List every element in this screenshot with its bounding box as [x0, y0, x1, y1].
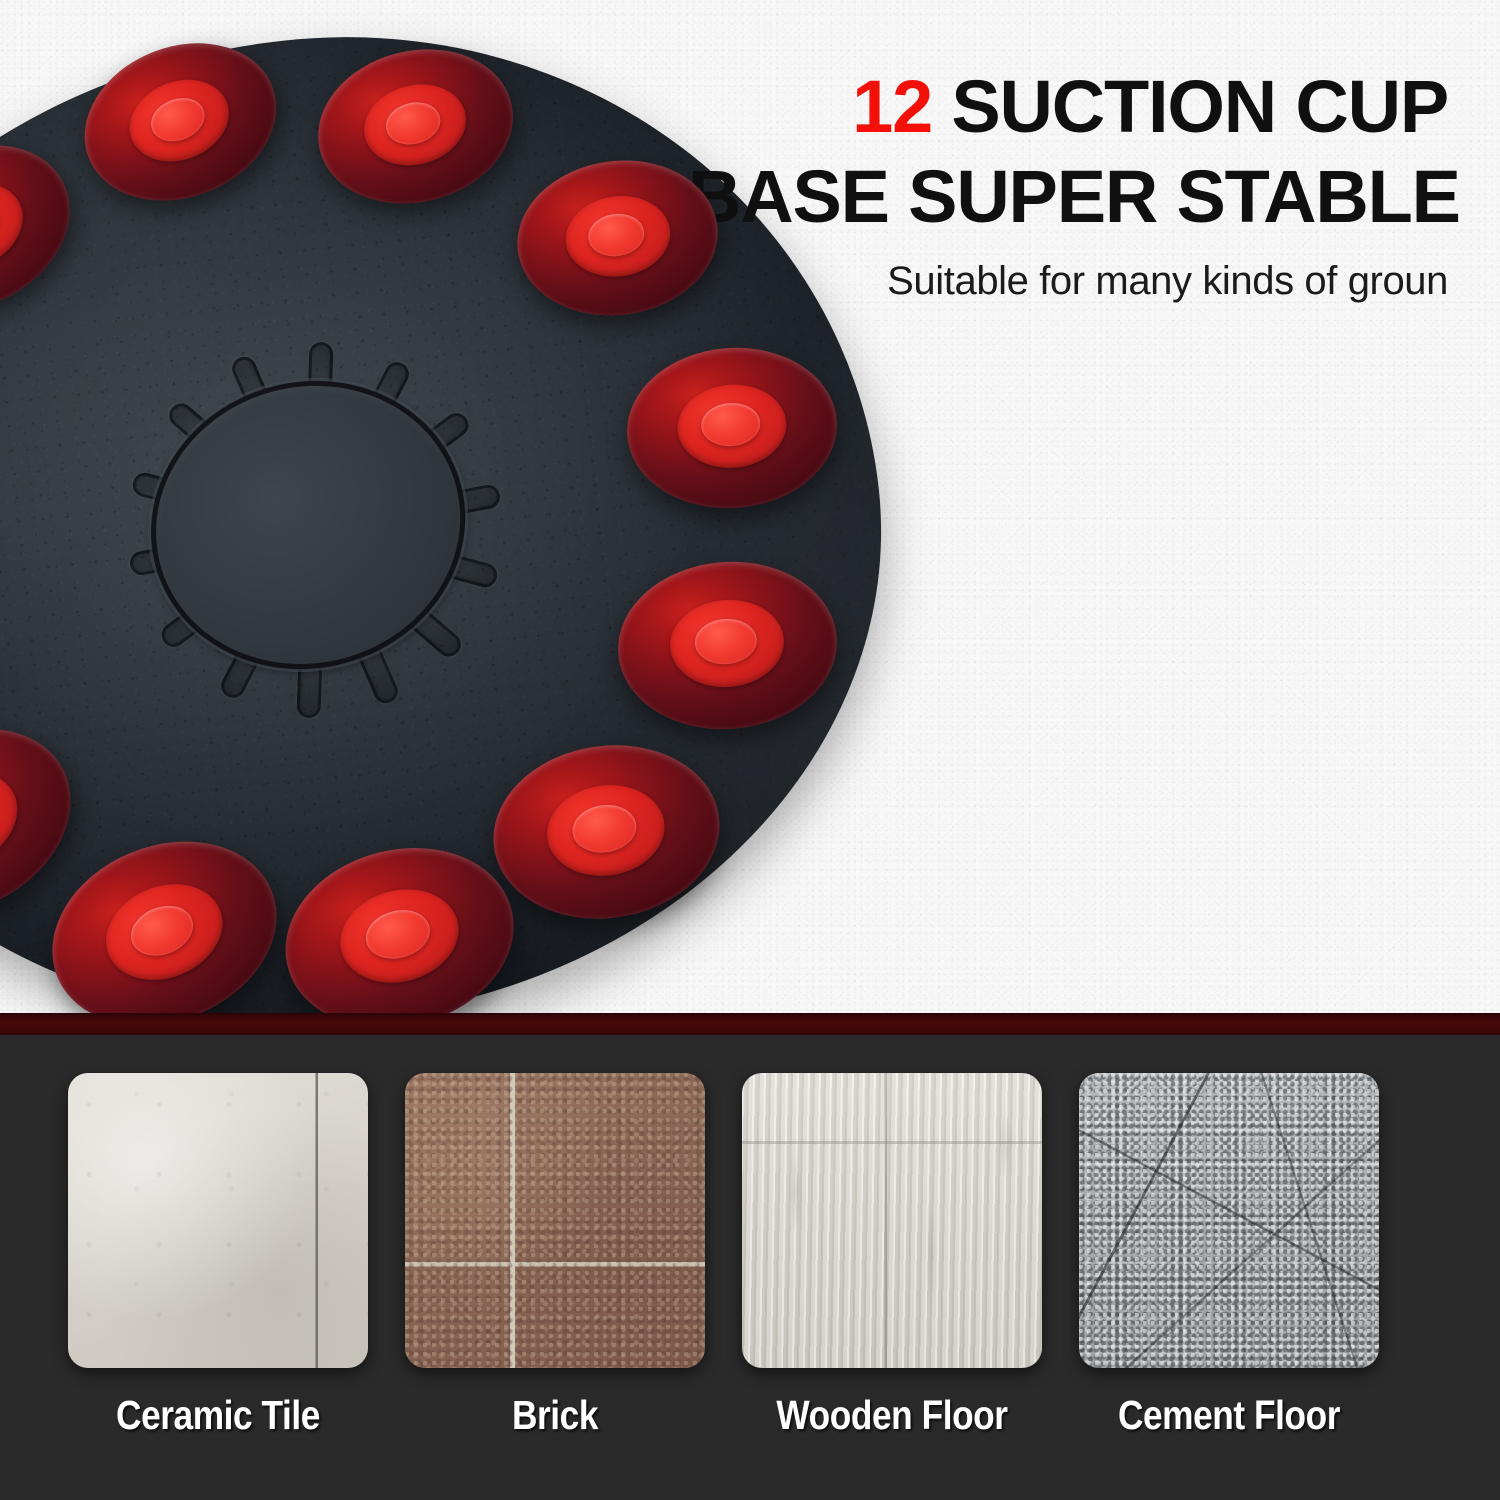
suction-cup	[621, 341, 842, 516]
surface-compatibility-section: Ceramic TileBrickWooden FloorCement Floo…	[0, 1035, 1500, 1500]
surface-thumbnail-cement	[1079, 1073, 1379, 1368]
headline-line-2: BASE SUPER STABLE	[688, 152, 1448, 242]
surface-item: Brick	[405, 1073, 705, 1439]
hero-section: 12 SUCTION CUP BASE SUPER STABLE Suitabl…	[0, 0, 1500, 1013]
suction-cup	[481, 730, 730, 933]
surface-thumbnail-brick	[405, 1073, 705, 1368]
product-feature-image: 12 SUCTION CUP BASE SUPER STABLE Suitabl…	[0, 0, 1500, 1500]
suction-cup	[507, 148, 728, 328]
surface-thumbnail-ceramic	[68, 1073, 368, 1368]
surface-thumbnail-wood	[742, 1073, 1042, 1368]
suction-cup-count: 12	[852, 65, 932, 148]
surface-label: Cement Floor	[1100, 1392, 1358, 1439]
headline-line-1-text: SUCTION CUP	[932, 65, 1448, 148]
headline-line-1: 12 SUCTION CUP	[688, 62, 1448, 152]
section-divider	[0, 1013, 1500, 1035]
surface-item: Ceramic Tile	[68, 1073, 368, 1439]
surface-item: Cement Floor	[1079, 1073, 1379, 1439]
surface-thumbnail-row: Ceramic TileBrickWooden FloorCement Floo…	[68, 1073, 1379, 1439]
surface-label: Brick	[426, 1392, 684, 1439]
suction-cup	[612, 554, 843, 737]
headline-subline: Suitable for many kinds of groun	[688, 259, 1448, 304]
headline-block: 12 SUCTION CUP BASE SUPER STABLE Suitabl…	[688, 62, 1448, 304]
surface-label: Ceramic Tile	[89, 1392, 347, 1439]
surface-item: Wooden Floor	[742, 1073, 1042, 1439]
surface-label: Wooden Floor	[763, 1392, 1021, 1439]
